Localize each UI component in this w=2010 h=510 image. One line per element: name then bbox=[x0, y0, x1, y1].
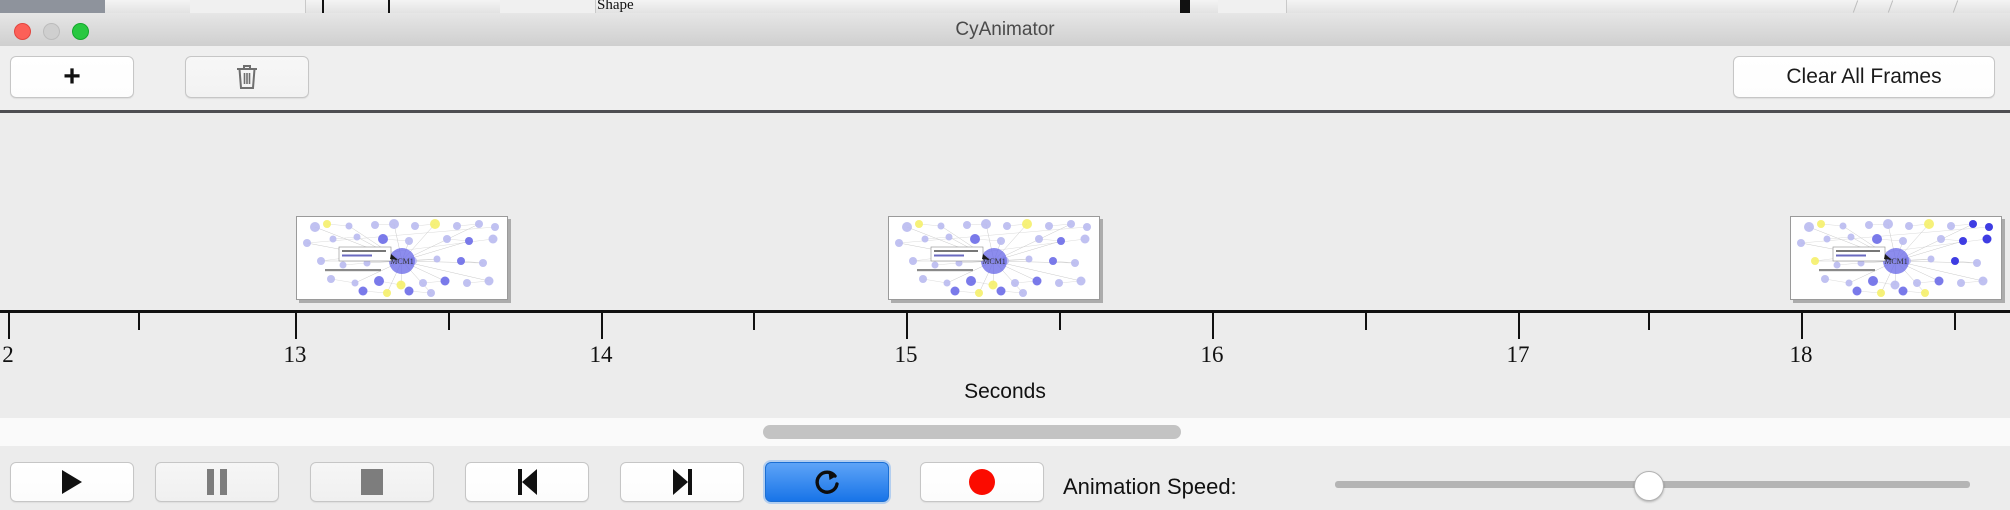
axis-tick-label: 16 bbox=[1201, 342, 1224, 368]
background-diagonal bbox=[1953, 0, 1958, 13]
background-tick bbox=[322, 0, 324, 13]
background-diagonal bbox=[1888, 0, 1893, 13]
animation-speed-label: Animation Speed: bbox=[1063, 474, 1237, 500]
axis-tick bbox=[8, 313, 10, 339]
axis-tick-label: 18 bbox=[1790, 342, 1813, 368]
plus-icon: + bbox=[63, 62, 81, 92]
pause-button bbox=[155, 462, 279, 502]
background-window-label: Shape bbox=[597, 0, 634, 13]
loop-icon bbox=[812, 467, 842, 497]
background-cell bbox=[1218, 0, 1287, 13]
cyanimator-window: Shape CyAnimator + Clear All Frames MCM1… bbox=[0, 0, 2010, 510]
frame-thumbnail-3[interactable]: MCM1 bbox=[1790, 216, 2002, 300]
background-cell bbox=[500, 0, 596, 13]
timeline-axis: 2131415161718 Seconds bbox=[0, 310, 2010, 418]
delete-frame-button[interactable] bbox=[185, 56, 309, 98]
axis-tick bbox=[1212, 313, 1214, 339]
axis-title: Seconds bbox=[0, 380, 2010, 404]
clear-all-frames-button[interactable]: Clear All Frames bbox=[1733, 56, 1995, 98]
axis-tick-label: 14 bbox=[590, 342, 613, 368]
axis-tick-label: 2 bbox=[2, 342, 14, 368]
title-bar: CyAnimator bbox=[0, 13, 2010, 47]
axis-tick bbox=[1059, 313, 1061, 330]
record-icon bbox=[969, 469, 995, 495]
axis-tick bbox=[295, 313, 297, 339]
axis-tick bbox=[906, 313, 908, 339]
pause-icon bbox=[207, 469, 227, 495]
background-tick bbox=[388, 0, 390, 13]
axis-tick bbox=[1954, 313, 1956, 330]
next-frame-button[interactable] bbox=[620, 462, 744, 502]
animation-speed-slider-thumb[interactable] bbox=[1634, 471, 1664, 501]
background-tick bbox=[1180, 0, 1190, 13]
record-button[interactable] bbox=[920, 462, 1044, 502]
axis-tick bbox=[1365, 313, 1367, 330]
stop-icon bbox=[361, 469, 383, 495]
previous-frame-button[interactable] bbox=[465, 462, 589, 502]
axis-tick bbox=[1518, 313, 1520, 339]
axis-tick bbox=[448, 313, 450, 330]
play-button[interactable] bbox=[10, 462, 134, 502]
add-frame-button[interactable]: + bbox=[10, 56, 134, 98]
axis-line bbox=[0, 310, 2010, 313]
skip-forward-icon bbox=[673, 469, 692, 495]
stop-button bbox=[310, 462, 434, 502]
axis-tick bbox=[138, 313, 140, 330]
axis-tick bbox=[1801, 313, 1803, 339]
timeline-panel[interactable]: MCM1MCM1MCM1 bbox=[0, 113, 2010, 310]
timeline-scrollbar-thumb[interactable] bbox=[763, 425, 1181, 439]
axis-tick-label: 17 bbox=[1507, 342, 1530, 368]
background-window-strip: Shape bbox=[0, 0, 2010, 13]
window-title: CyAnimator bbox=[0, 13, 2010, 46]
axis-tick-label: 13 bbox=[284, 342, 307, 368]
frame-thumbnail-1[interactable]: MCM1 bbox=[296, 216, 508, 300]
frame-thumbnail-2[interactable]: MCM1 bbox=[888, 216, 1100, 300]
play-icon bbox=[62, 470, 82, 494]
background-tab bbox=[0, 0, 105, 13]
axis-tick bbox=[753, 313, 755, 330]
axis-tick-label: 15 bbox=[895, 342, 918, 368]
skip-back-icon bbox=[518, 469, 537, 495]
loop-button[interactable] bbox=[765, 462, 889, 502]
trash-icon bbox=[234, 63, 260, 91]
background-cell bbox=[250, 0, 306, 13]
axis-tick bbox=[1648, 313, 1650, 330]
clear-all-frames-label: Clear All Frames bbox=[1786, 65, 1941, 89]
timeline-scrollbar-track[interactable] bbox=[0, 418, 2010, 448]
background-cell bbox=[190, 0, 251, 13]
axis-tick bbox=[601, 313, 603, 339]
background-diagonal bbox=[1853, 0, 1858, 13]
